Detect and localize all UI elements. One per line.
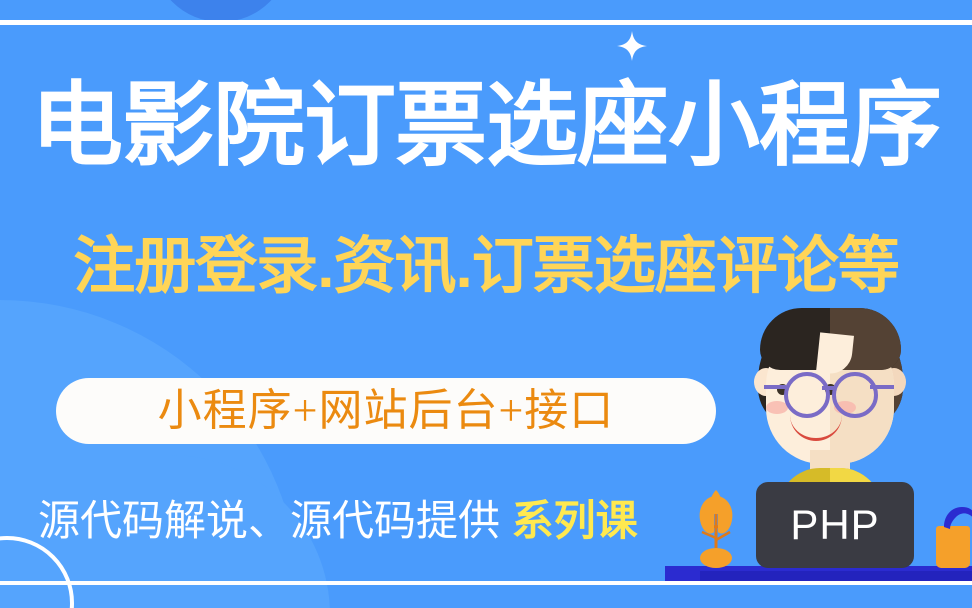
coffee-mug-icon	[936, 526, 970, 568]
glasses-temple-right	[870, 385, 894, 389]
potted-plant-icon	[694, 488, 738, 568]
laptop-screen-label: PHP	[790, 503, 879, 547]
poster-subheadline: 注册登录.资讯.订票选座评论等	[0, 232, 972, 302]
poster-caption: 源代码解说、源代码提供 系列课	[38, 495, 738, 547]
caption-accent-text: 系列课	[512, 497, 638, 544]
mug-steam-icon	[942, 505, 972, 531]
bottom-divider-line	[0, 581, 972, 585]
feature-pill-label: 小程序+网站后台+接口	[158, 388, 615, 434]
glasses-temple-left	[764, 385, 786, 389]
laptop: PHP	[756, 482, 914, 568]
poster-headline: 电影院订票选座小程序	[0, 76, 972, 176]
background-circle-top	[152, 0, 290, 22]
feature-pill: 小程序+网站后台+接口	[56, 378, 716, 444]
glasses-bridge	[822, 386, 834, 390]
sparkle-icon	[617, 31, 647, 61]
glasses-icon	[760, 372, 902, 412]
top-divider-line	[0, 20, 972, 25]
course-poster: 电影院订票选座小程序 注册登录.资讯.订票选座评论等 小程序+网站后台+接口 源…	[0, 0, 972, 608]
caption-main-text: 源代码解说、源代码提供	[38, 497, 512, 544]
